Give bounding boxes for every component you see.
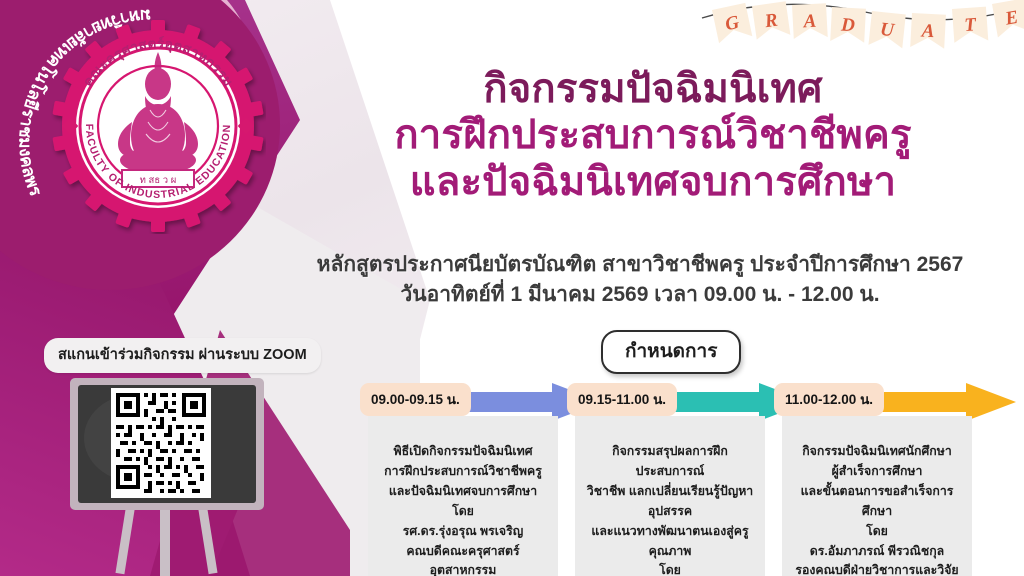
faculty-emblem-icon: ท สธ ว ผ คณะครุศาสตร์อุตสาหกรรม FACULTY …	[50, 18, 266, 234]
timeline-line: โดย	[789, 522, 965, 542]
title-line-1: กิจกรรมปัจฉิมนิเทศ	[288, 68, 1018, 110]
bunting-pennants: G R A D U	[712, 0, 1024, 49]
subtitle-datetime: วันอาทิตย์ที่ 1 มีนาคม 2569 เวลา 09.00 น…	[260, 280, 1020, 310]
easel-legs	[115, 500, 217, 576]
bunting-letter: D	[840, 14, 856, 36]
timeline-time-badge-3: 11.00-12.00 น.	[774, 383, 884, 416]
bunting-letter: R	[763, 10, 779, 33]
qr-code	[111, 388, 211, 498]
timeline-line: และปัจฉิมนิเทศจบการศึกษา	[375, 482, 551, 502]
university-logo: มหาวิทยาลัยเทคโนโลยีราชมงคลพระนคร	[8, 2, 278, 270]
timeline-line: และขั้นตอนการขอสำเร็จการศึกษา	[789, 482, 965, 522]
timeline-line: พิธีเปิดกิจกรรมปัจฉิมนิเทศ	[375, 442, 551, 462]
event-subtitle: หลักสูตรประกาศนียบัตรบัณฑิต สาขาวิชาชีพค…	[260, 250, 1020, 311]
timeline-line: ผู้สำเร็จการศึกษา	[789, 462, 965, 482]
subtitle-program: หลักสูตรประกาศนียบัตรบัณฑิต สาขาวิชาชีพค…	[260, 250, 1020, 280]
timeline-line: กิจกรรมปัจฉิมนิเทศนักศึกษา	[789, 442, 965, 462]
timeline-line: คณบดีคณะครุศาสตร์อุตสาหกรรม	[375, 542, 551, 576]
timeline-line: รศ.ดร.รุ่งอรุณ พรเจริญ	[375, 522, 551, 542]
page-title: กิจกรรมปัจฉิมนิเทศ การฝึกประสบการณ์วิชาช…	[288, 68, 1018, 203]
timeline-line: โดย	[375, 502, 551, 522]
timeline-time-badge-1: 09.00-09.15 น.	[360, 383, 471, 416]
timeline-card-1: พิธีเปิดกิจกรรมปัจฉิมนิเทศ การฝึกประสบกา…	[368, 416, 558, 576]
timeline-card-2: กิจกรรมสรุปผลการฝึกประสบการณ์ วิชาชีพ แล…	[575, 416, 765, 576]
poster-root: มหาวิทยาลัยเทคโนโลยีราชมงคลพระนคร	[0, 0, 1024, 576]
timeline-card-3: กิจกรรมปัจฉิมนิเทศนักศึกษา ผู้สำเร็จการศ…	[782, 416, 972, 576]
title-line-2: การฝึกประสบการณ์วิชาชีพครู	[288, 114, 1018, 156]
timeline-line: การฝึกประสบการณ์วิชาชีพครู	[375, 462, 551, 482]
timeline-line: กิจกรรมสรุปผลการฝึกประสบการณ์	[582, 442, 758, 482]
emblem-plaque-text: ท สธ ว ผ	[140, 175, 177, 186]
bunting-letter: A	[920, 20, 935, 42]
bunting-letter: A	[802, 11, 817, 33]
qr-easel	[56, 372, 278, 576]
timeline-line: โดย	[582, 561, 758, 576]
timeline-time-badge-2: 09.15-11.00 น.	[567, 383, 677, 416]
timeline-line: และแนวทางพัฒนาตนเองสู่ครูคุณภาพ	[582, 522, 758, 562]
graduate-bunting-banner: G R A D U	[700, 0, 1024, 68]
schedule-timeline: 09.00-09.15 น. พิธีเปิดกิจกรรมปัจฉิมนิเท…	[360, 380, 1024, 576]
schedule-badge: กำหนดการ	[601, 330, 741, 374]
title-line-3: และปัจฉิมนิเทศจบการศึกษา	[288, 161, 1018, 203]
timeline-line: วิชาชีพ แลกเปลี่ยนเรียนรู้ปัญหา อุปสรรค	[582, 482, 758, 522]
timeline-line: ดร.อัมภาภรณ์ พีรวณิชกุล	[789, 542, 965, 562]
timeline-line: รองคณบดีฝ่ายวิชาการและวิจัย	[789, 561, 965, 576]
qr-caption: สแกนเข้าร่วมกิจกรรม ผ่านระบบ ZOOM	[44, 338, 321, 373]
